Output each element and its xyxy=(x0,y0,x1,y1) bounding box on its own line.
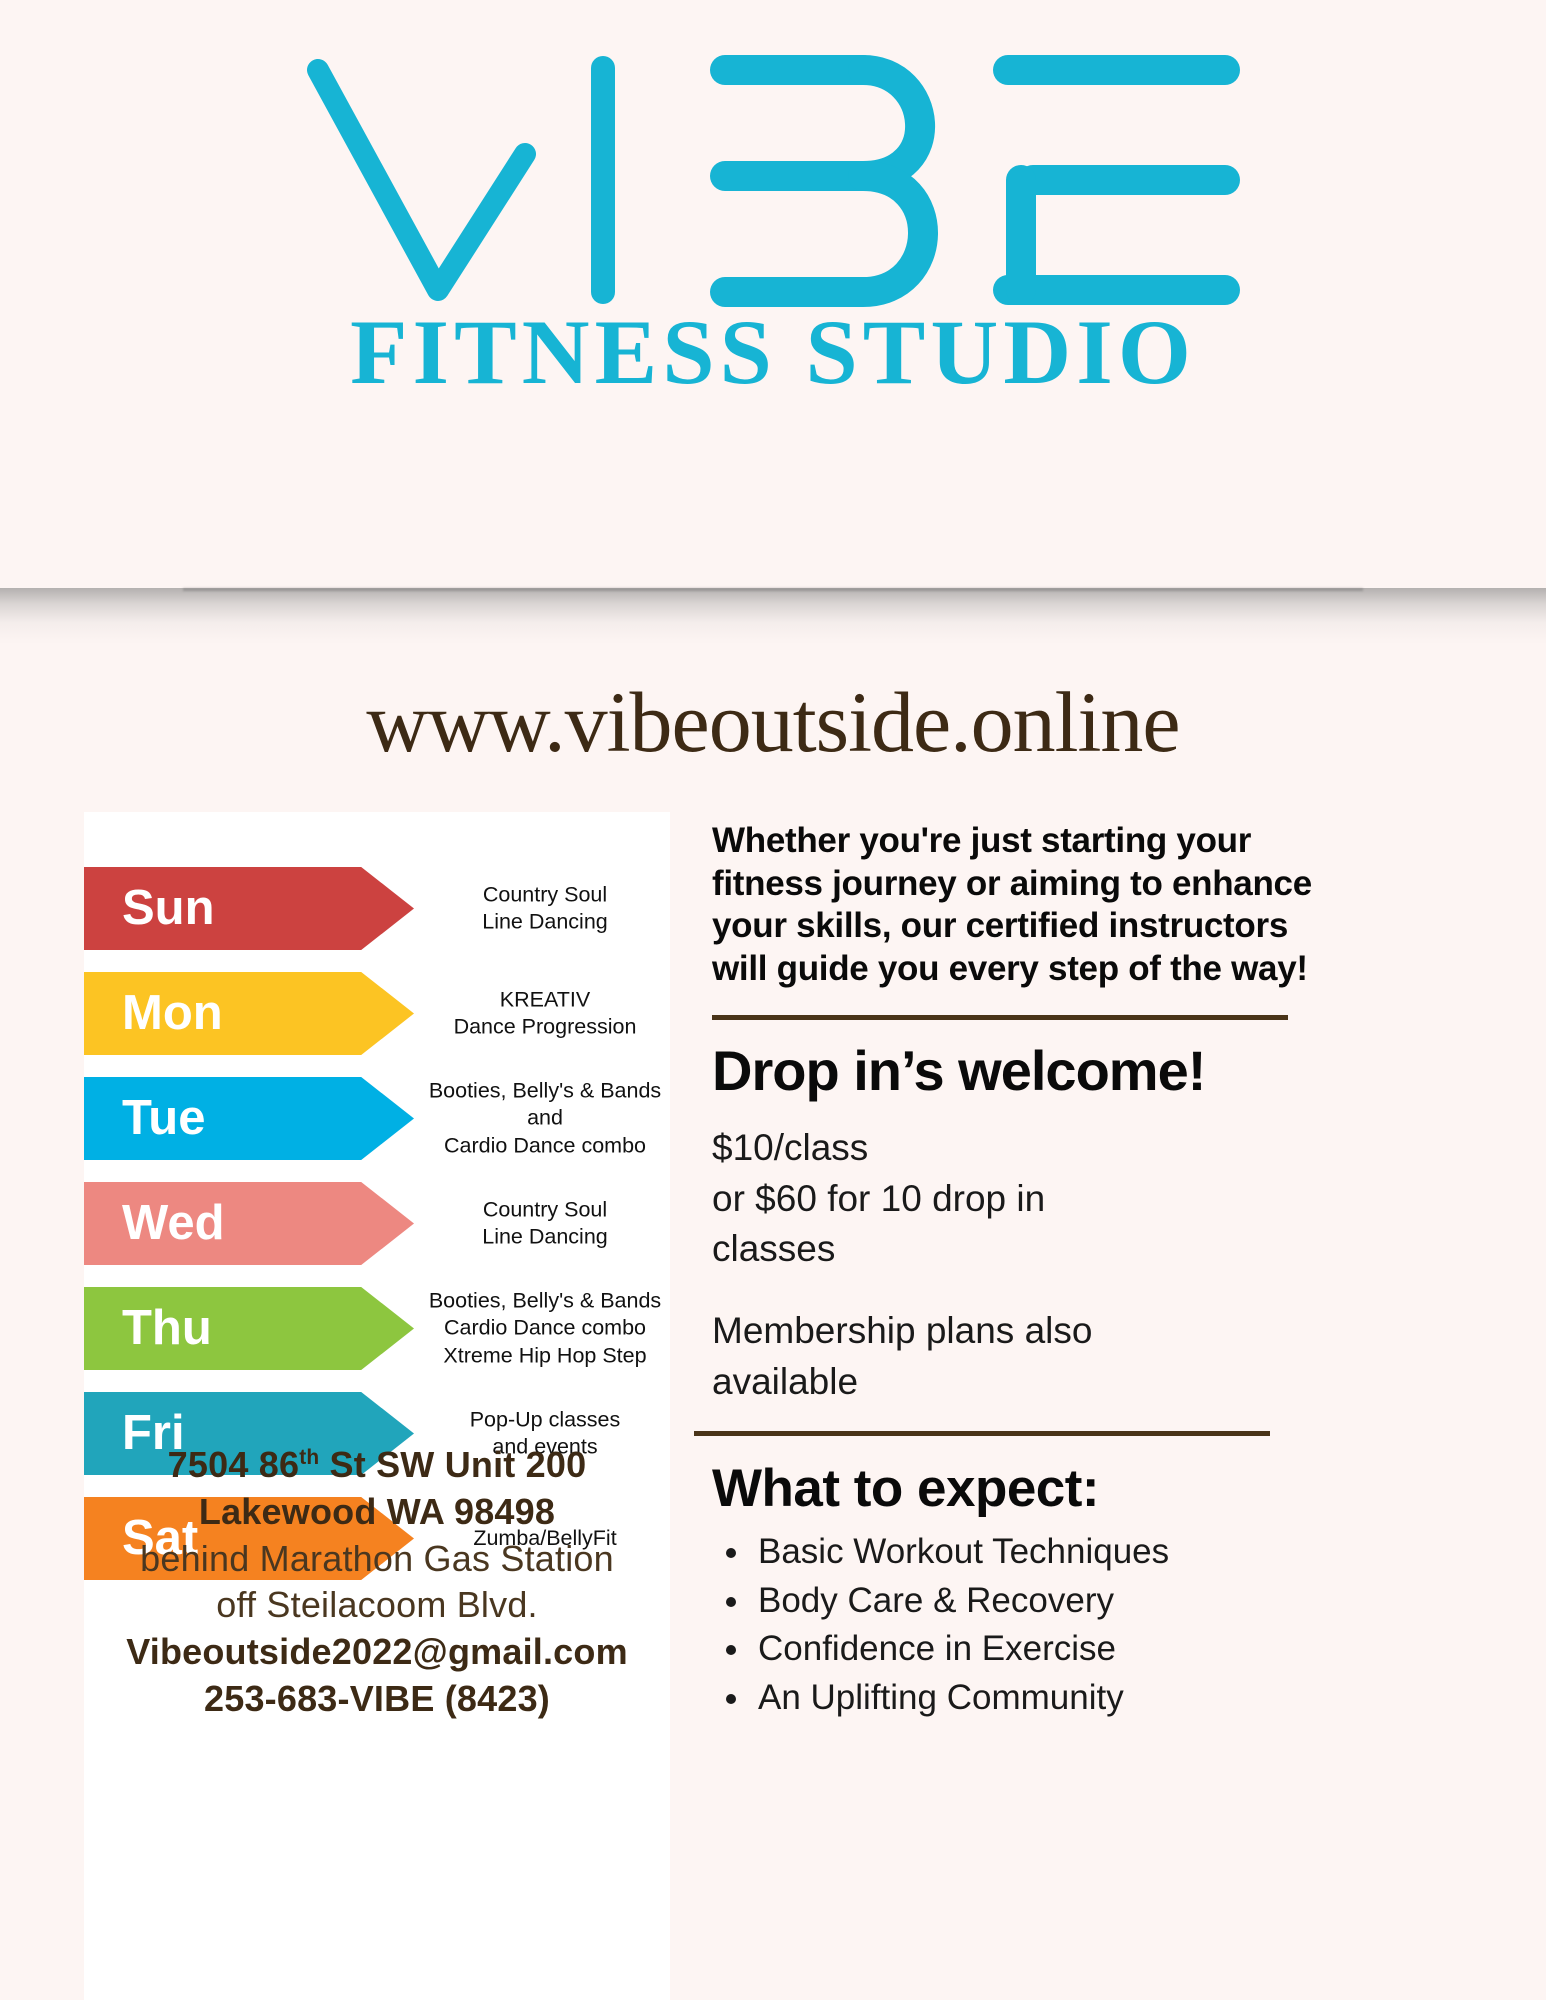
address-street-post: St SW Unit 200 xyxy=(319,1444,586,1485)
class-line: Dance Progression xyxy=(420,1014,670,1042)
class-line: Pop-Up classes xyxy=(420,1406,670,1434)
membership-block: Membership plans also available xyxy=(712,1306,1312,1407)
brand-logo: FITNESS STUDIO xyxy=(0,52,1546,398)
expect-heading: What to expect: xyxy=(712,1458,1312,1519)
divider-rule-top xyxy=(712,1015,1288,1020)
contact-phone[interactable]: 253-683-VIBE (8423) xyxy=(84,1676,670,1723)
class-line: Line Dancing xyxy=(420,909,670,937)
list-item: Basic Workout Techniques xyxy=(712,1529,1312,1576)
class-description: Booties, Belly's & Bands and Cardio Danc… xyxy=(420,1077,670,1160)
section-divider-shadow xyxy=(0,588,1546,644)
class-description: Country Soul Line Dancing xyxy=(420,1196,670,1251)
class-line: and xyxy=(420,1105,670,1133)
list-item: Confidence in Exercise xyxy=(712,1626,1312,1673)
class-line: Country Soul xyxy=(420,1196,670,1224)
schedule-row: Thu Booties, Belly's & Bands Cardio Danc… xyxy=(84,1287,670,1370)
class-line: Xtreme Hip Hop Step xyxy=(420,1342,670,1370)
schedule-row: Wed Country Soul Line Dancing xyxy=(84,1182,670,1265)
price-bundle-line1: or $60 for 10 drop in xyxy=(712,1174,1312,1224)
class-line: KREATIV xyxy=(420,986,670,1014)
expect-list: Basic Workout Techniques Body Care & Rec… xyxy=(712,1529,1312,1721)
contact-email[interactable]: Vibeoutside2022@gmail.com xyxy=(84,1629,670,1676)
class-line: Cardio Dance combo xyxy=(420,1315,670,1343)
day-label: Wed xyxy=(84,1199,225,1248)
day-arrow-wed[interactable]: Wed xyxy=(84,1182,414,1265)
day-arrow-sun[interactable]: Sun xyxy=(84,867,414,950)
class-line: Country Soul xyxy=(420,881,670,909)
address-street-ordinal: th xyxy=(299,1446,319,1469)
price-bundle-line2: classes xyxy=(712,1224,1312,1274)
price-per-class: $10/class xyxy=(712,1123,1312,1173)
address-block: 7504 86th St SW Unit 200 Lakewood WA 984… xyxy=(84,1442,670,1723)
dropin-heading: Drop in’s welcome! xyxy=(712,1042,1312,1100)
class-description: Booties, Belly's & Bands Cardio Dance co… xyxy=(420,1287,670,1370)
address-street-pre: 7504 86 xyxy=(168,1444,300,1485)
divider-rule-bottom xyxy=(694,1431,1270,1436)
logo-subtitle: FITNESS STUDIO xyxy=(0,306,1546,398)
flyer-page: FITNESS STUDIO www.vibeoutside.online Su… xyxy=(0,0,1546,2000)
schedule-row: Mon KREATIV Dance Progression xyxy=(84,972,670,1055)
day-label: Thu xyxy=(84,1304,212,1353)
address-landmark-line: behind Marathon Gas Station xyxy=(84,1536,670,1583)
vibe-wordmark-icon xyxy=(273,52,1273,312)
address-street-line: 7504 86th St SW Unit 200 xyxy=(84,1442,670,1489)
membership-line2: available xyxy=(712,1357,1312,1407)
day-arrow-tue[interactable]: Tue xyxy=(84,1077,414,1160)
schedule-row: Tue Booties, Belly's & Bands and Cardio … xyxy=(84,1077,670,1160)
class-description: KREATIV Dance Progression xyxy=(420,986,670,1041)
schedule-row: Sun Country Soul Line Dancing xyxy=(84,867,670,950)
info-column: Whether you're just starting your fitnes… xyxy=(712,820,1312,1723)
class-line: Booties, Belly's & Bands xyxy=(420,1287,670,1315)
day-label: Mon xyxy=(84,989,223,1038)
website-url[interactable]: www.vibeoutside.online xyxy=(0,672,1546,772)
class-line: Booties, Belly's & Bands xyxy=(420,1077,670,1105)
price-block: $10/class or $60 for 10 drop in classes xyxy=(712,1123,1312,1274)
day-label: Sun xyxy=(84,884,215,933)
day-arrow-thu[interactable]: Thu xyxy=(84,1287,414,1370)
address-cross-street-line: off Steilacoom Blvd. xyxy=(84,1582,670,1629)
list-item: Body Care & Recovery xyxy=(712,1578,1312,1625)
schedule-panel: Sun Country Soul Line Dancing Mon KREATI… xyxy=(84,812,670,2000)
membership-line1: Membership plans also xyxy=(712,1306,1312,1356)
intro-paragraph: Whether you're just starting your fitnes… xyxy=(712,820,1312,991)
list-item: An Uplifting Community xyxy=(712,1675,1312,1722)
class-line: Cardio Dance combo xyxy=(420,1132,670,1160)
day-label: Tue xyxy=(84,1094,205,1143)
day-arrow-mon[interactable]: Mon xyxy=(84,972,414,1055)
address-city-line: Lakewood WA 98498 xyxy=(84,1489,670,1536)
class-line: Line Dancing xyxy=(420,1224,670,1252)
class-description: Country Soul Line Dancing xyxy=(420,881,670,936)
